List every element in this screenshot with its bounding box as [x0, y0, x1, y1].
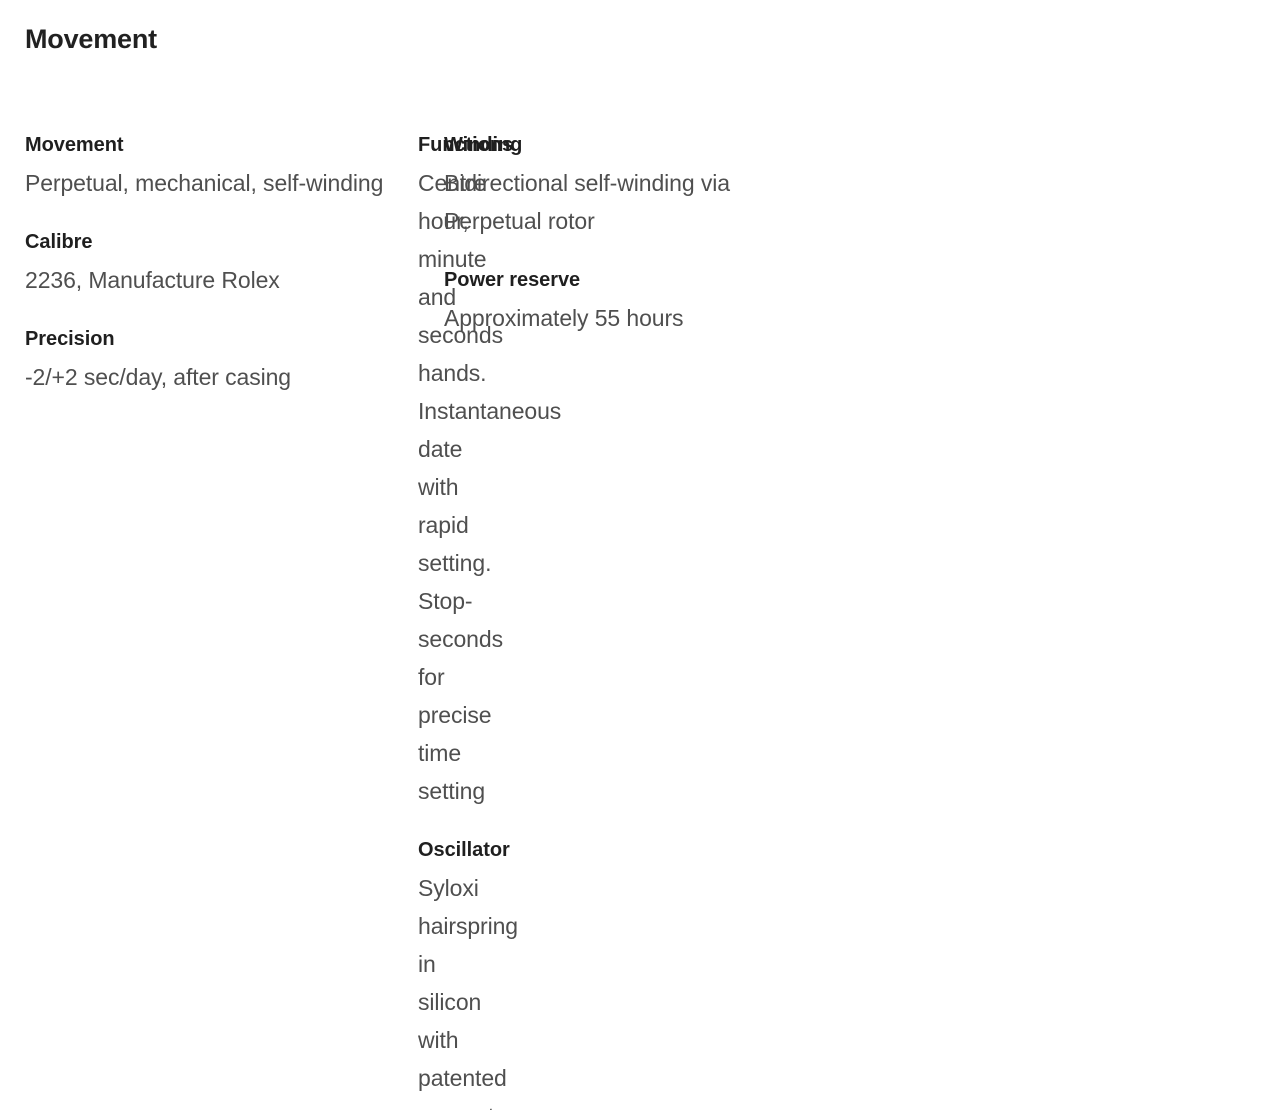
page-title: Movement [25, 22, 157, 56]
spec-group-power-reserve: Power reserve Approximately 55 hours [444, 261, 832, 337]
spec-value-winding: Bidirectional self-winding via Perpetual… [444, 164, 832, 240]
spec-value-power-reserve: Approximately 55 hours [444, 299, 832, 337]
spec-label-winding: Winding [444, 126, 832, 164]
specification-columns: Movement Perpetual, mechanical, self-win… [0, 126, 1286, 1110]
spec-label-power-reserve: Power reserve [444, 261, 832, 299]
spec-group-winding: Winding Bidirectional self-winding via P… [444, 126, 832, 240]
column-functions: Functions Centre hour, minute and second… [0, 126, 432, 1110]
column-winding: Winding Bidirectional self-winding via P… [432, 126, 862, 337]
movement-specifications-panel: Movement Movement Perpetual, mechanical,… [0, 0, 1286, 555]
